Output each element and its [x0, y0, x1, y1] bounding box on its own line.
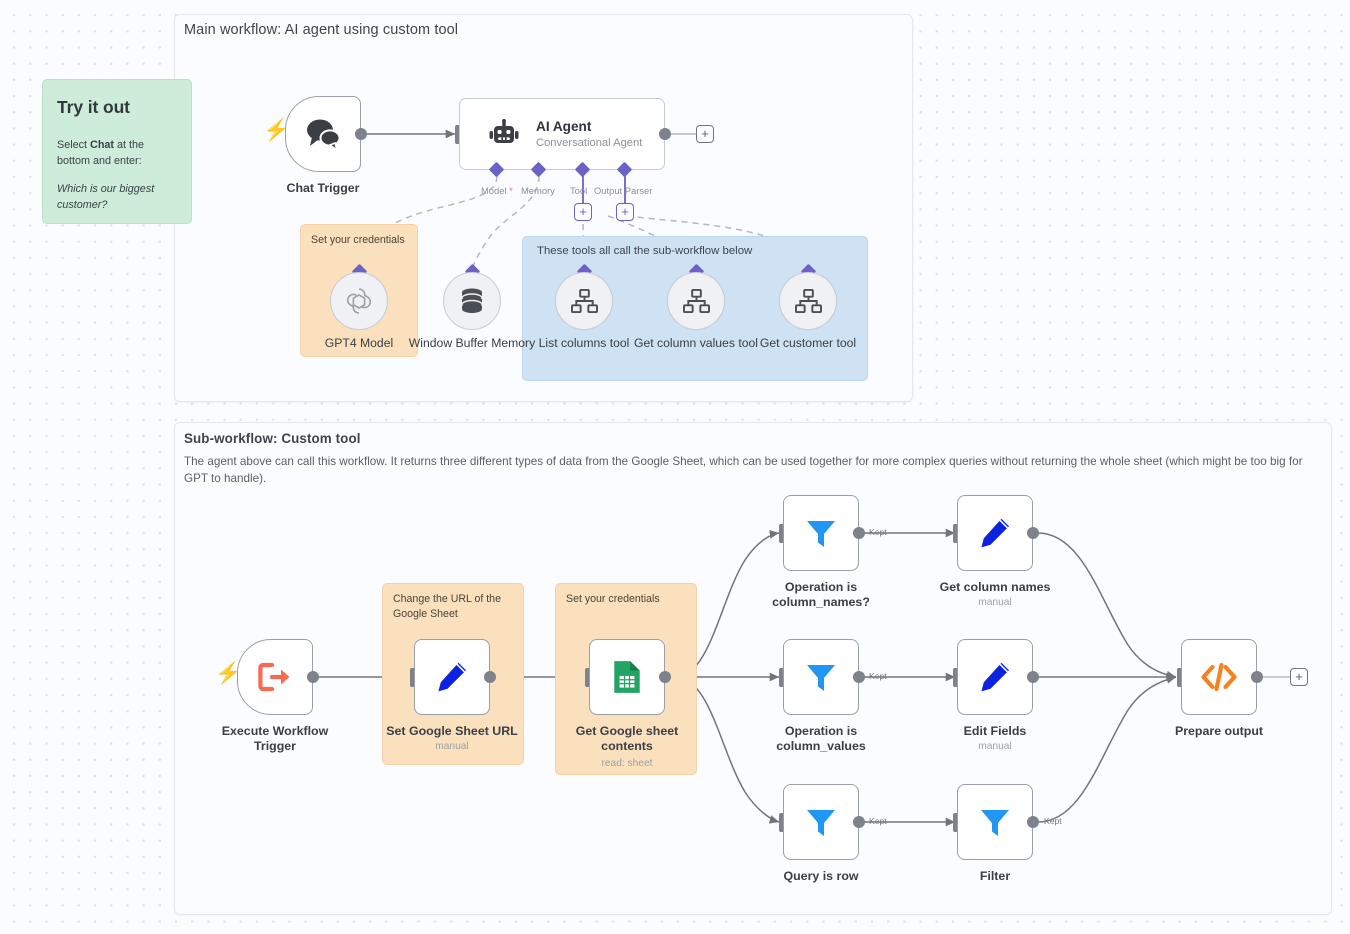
edit-fields-label: Edit Fields [920, 724, 1070, 739]
sub-workflow-panel[interactable] [174, 422, 1332, 915]
pencil-icon [435, 660, 469, 694]
try-it-out-chat-bold: Chat [90, 139, 114, 151]
workflow-canvas[interactable]: Main workflow: AI agent using custom too… [0, 0, 1350, 934]
operation-is-column-values-box[interactable] [783, 639, 859, 715]
get-customer-tool-label: Get customer tool [743, 336, 873, 351]
filter-box[interactable] [957, 784, 1033, 860]
edit-fields-output-port[interactable] [1027, 671, 1039, 683]
execute-workflow-trigger-output-port[interactable] [307, 671, 319, 683]
edit-fields-subtitle: manual [920, 741, 1070, 752]
main-workflow-title: Main workflow: AI agent using custom too… [184, 22, 458, 38]
google-sheets-icon [611, 659, 643, 695]
code-icon [1200, 662, 1238, 692]
operation-is-column-names-label: Operation is column_names? [746, 580, 896, 610]
list-columns-tool-label: List columns tool [519, 336, 649, 351]
execute-workflow-trigger-label: Execute Workflow Trigger [200, 724, 350, 754]
openai-icon [344, 286, 374, 316]
ai-agent-output-port[interactable] [659, 128, 671, 140]
chat-trigger-label: Chat Trigger [248, 181, 398, 196]
change-url-note-label: Change the URL of the Google Sheet [393, 592, 522, 622]
get-google-sheet-contents-box[interactable] [589, 639, 665, 715]
add-output-parser-button[interactable]: + [616, 203, 634, 221]
set-google-sheet-url-output-port[interactable] [484, 671, 496, 683]
chat-trigger-output-port[interactable] [355, 128, 367, 140]
get-column-values-tool-label: Get column values tool [631, 336, 761, 351]
ai-agent-add-node-button[interactable]: + [696, 125, 714, 143]
get-google-sheet-contents-output-port[interactable] [659, 671, 671, 683]
pencil-icon [978, 660, 1012, 694]
port-label-tool: Tool [570, 185, 587, 196]
sitemap-icon [571, 289, 598, 314]
sub-workflow-title: Sub-workflow: Custom tool [184, 431, 361, 446]
port-label-model: Model * [481, 185, 513, 196]
execute-workflow-icon [258, 662, 292, 692]
try-it-out-line1: Select Chat at the bottom and enter: [57, 137, 177, 169]
operation-is-column-names-output-port[interactable] [853, 527, 865, 539]
list-columns-tool-box[interactable] [555, 272, 613, 330]
get-google-sheet-contents-label: Get Google sheet contents [552, 724, 702, 754]
sub-workflow-description: The agent above can call this workflow. … [184, 454, 1320, 488]
try-it-out-note[interactable]: Try it out Select Chat at the bottom and… [42, 79, 192, 224]
edit-fields-box[interactable] [957, 639, 1033, 715]
operation-is-column-names-box[interactable] [783, 495, 859, 571]
get-column-names-box[interactable] [957, 495, 1033, 571]
port-label-memory: Memory [521, 185, 555, 196]
filter-label: Filter [920, 869, 1070, 884]
filter-icon [804, 516, 838, 550]
filter-icon [804, 660, 838, 694]
prepare-output-label: Prepare output [1144, 724, 1294, 739]
port-label-model-required: * [509, 185, 513, 196]
set-google-sheet-url-subtitle: manual [377, 741, 527, 752]
pencil-icon [978, 516, 1012, 550]
operation-is-column-values-output-port[interactable] [853, 671, 865, 683]
filter-icon [978, 805, 1012, 839]
ai-agent-title: AI Agent [536, 119, 642, 135]
tools-group-note-label: These tools all call the sub-workflow be… [537, 245, 752, 257]
operation-is-column-values-label: Operation is column_values [746, 724, 896, 754]
gpt4-model-label: GPT4 Model [294, 336, 424, 351]
ai-agent-subtitle: Conversational Agent [536, 137, 642, 149]
get-customer-tool-box[interactable] [779, 272, 837, 330]
query-is-row-label: Query is row [746, 869, 896, 884]
get-column-names-label: Get column names [920, 580, 1070, 595]
window-buffer-memory-box[interactable] [443, 272, 501, 330]
sitemap-icon [795, 289, 822, 314]
ai-agent-box[interactable]: AI Agent Conversational Agent [459, 98, 665, 170]
window-buffer-memory-label: Window Buffer Memory [407, 336, 537, 351]
edge-label-kept-2: Kept [869, 671, 887, 681]
try-it-out-line2: Which is our biggest customer? [57, 181, 182, 213]
get-google-sheet-contents-subtitle: read: sheet [552, 758, 702, 769]
filter-icon [804, 805, 838, 839]
gpt4-model-box[interactable] [330, 272, 388, 330]
gpt-credentials-note-label: Set your credentials [311, 233, 418, 248]
prepare-output-output-port[interactable] [1251, 671, 1263, 683]
edge-label-kept-1: Kept [869, 527, 887, 537]
set-google-sheet-url-label: Set Google Sheet URL [377, 724, 527, 739]
add-tool-button[interactable]: + [574, 203, 592, 221]
edge-label-kept-3: Kept [869, 816, 887, 826]
robot-icon [488, 119, 520, 149]
try-it-out-title: Try it out [43, 80, 191, 118]
port-label-model-text: Model [481, 185, 507, 196]
get-column-names-subtitle: manual [920, 597, 1070, 608]
get-column-names-output-port[interactable] [1027, 527, 1039, 539]
get-column-values-tool-box[interactable] [667, 272, 725, 330]
filter-output-port[interactable] [1027, 816, 1039, 828]
sitemap-icon [683, 289, 710, 314]
query-is-row-output-port[interactable] [853, 816, 865, 828]
set-google-sheet-url-box[interactable] [414, 639, 490, 715]
prepare-output-box[interactable] [1181, 639, 1257, 715]
edge-label-kept-4: Kept [1044, 816, 1062, 826]
try-it-out-line1-pre: Select [57, 139, 90, 151]
port-label-output-parser: Output Parser [594, 185, 652, 196]
sheet-credentials-note-label: Set your credentials [566, 592, 695, 607]
chat-trigger-box[interactable] [285, 96, 361, 172]
execute-workflow-trigger-box[interactable] [237, 639, 313, 715]
database-icon [459, 287, 485, 315]
query-is-row-box[interactable] [783, 784, 859, 860]
prepare-output-add-node-button[interactable]: + [1290, 668, 1308, 686]
chat-bubbles-icon [303, 117, 343, 151]
